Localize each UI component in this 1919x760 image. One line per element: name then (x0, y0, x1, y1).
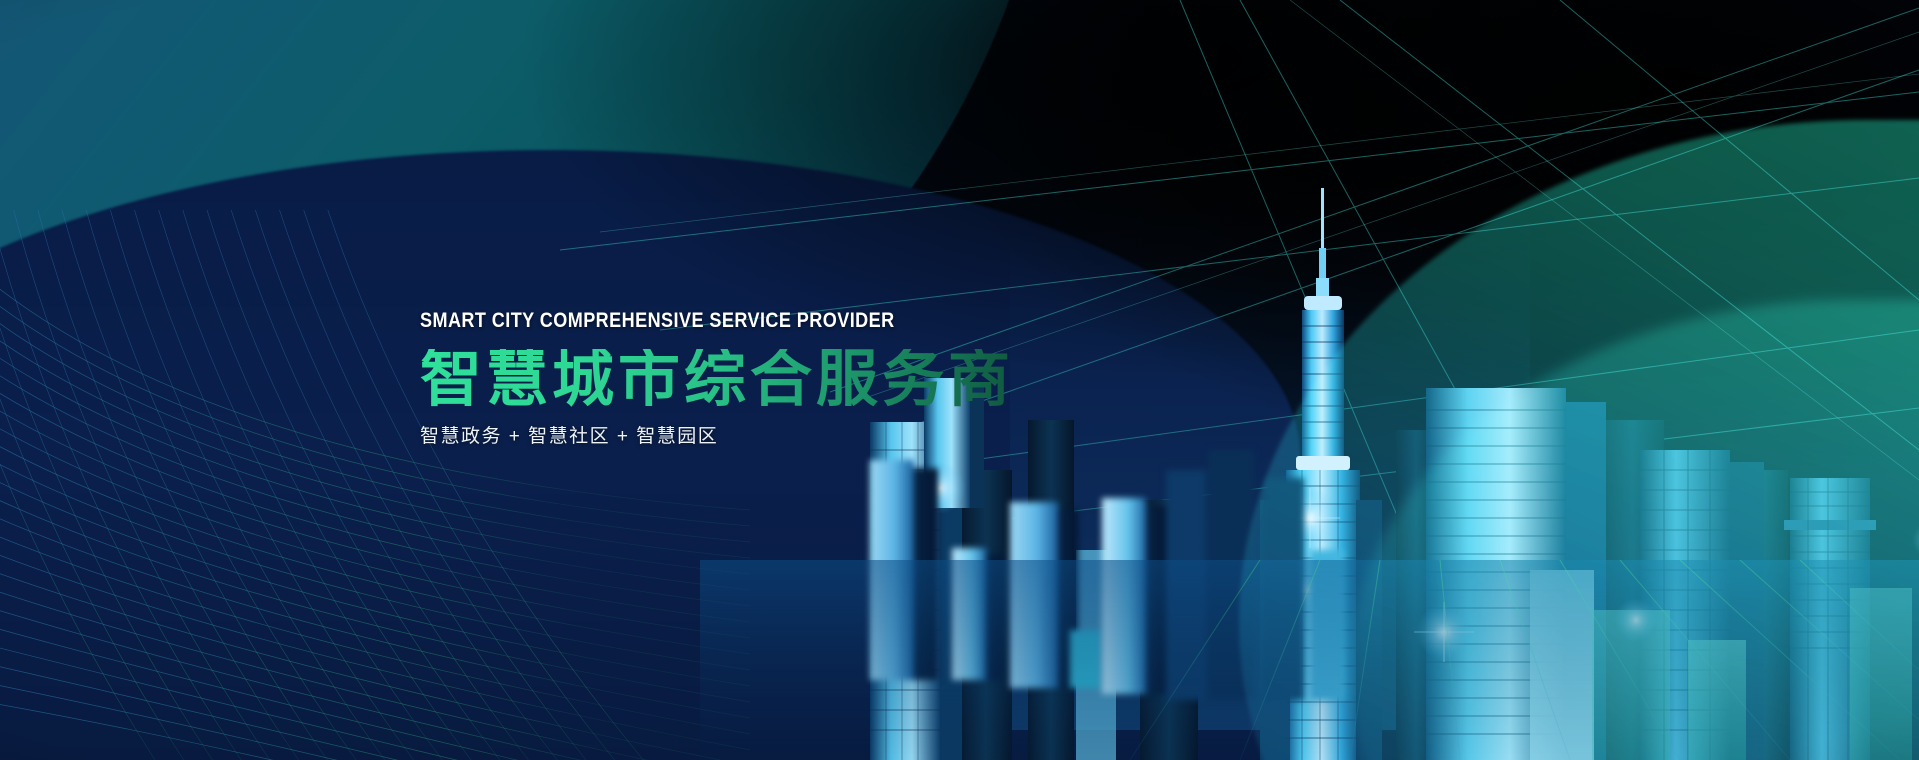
eyebrow-tagline: SMART CITY COMPREHENSIVE SERVICE PROVIDE… (420, 310, 931, 331)
headline-copy-block: SMART CITY COMPREHENSIVE SERVICE PROVIDE… (420, 310, 1014, 446)
smart-city-banner: SMART CITY COMPREHENSIVE SERVICE PROVIDE… (0, 0, 1919, 760)
subtitle-services: 智慧政务 + 智慧社区 + 智慧园区 (420, 427, 1014, 446)
page-title: 智慧城市综合服务商 (420, 349, 1014, 411)
